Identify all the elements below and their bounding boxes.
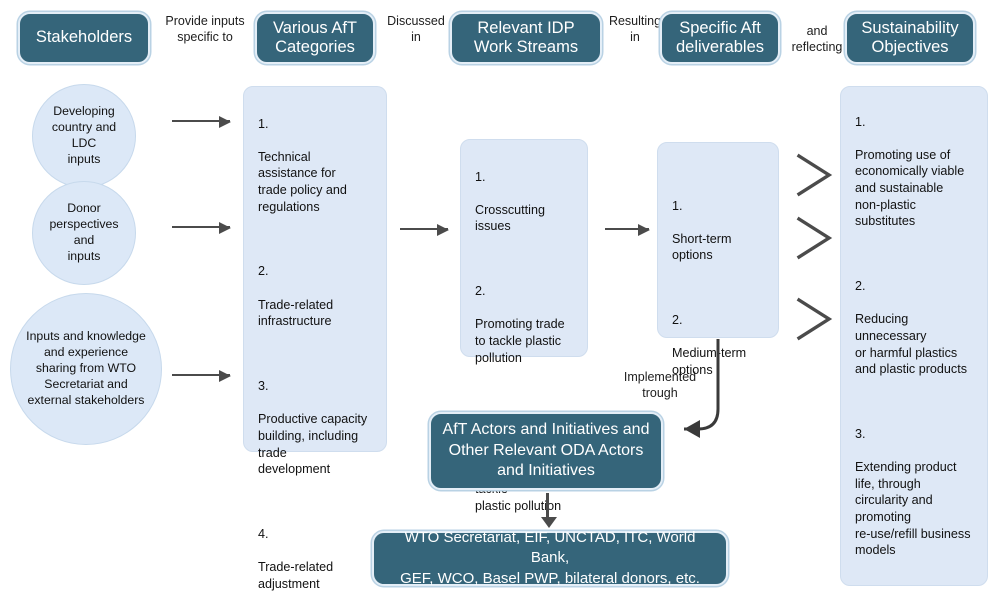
item-number: 2. bbox=[475, 283, 573, 300]
panel-aft-categories: 1. Technical assistance for trade policy… bbox=[243, 86, 387, 452]
item-text: Extending product life, through circular… bbox=[855, 459, 973, 559]
arrow-wto-to-categories bbox=[172, 374, 230, 376]
circle-donor-perspectives: Donor perspectives and inputs bbox=[32, 181, 136, 285]
item-number: 2. bbox=[855, 278, 973, 295]
list-item: 3. Productive capacity building, includi… bbox=[258, 362, 372, 495]
elbow-arrow-implemented-trough bbox=[660, 337, 770, 447]
chevron-right-icon-3 bbox=[795, 296, 835, 342]
circle-label: Inputs and knowledge and experience shar… bbox=[26, 329, 146, 409]
circle-label: Donor perspectives and inputs bbox=[39, 201, 129, 265]
arrow-developing-to-categories bbox=[172, 120, 230, 122]
item-text: Productive capacity building, including … bbox=[258, 411, 372, 477]
item-text: Short-term options bbox=[672, 231, 764, 264]
header-idp-work-streams: Relevant IDP Work Streams bbox=[450, 12, 602, 64]
arrow-donor-to-categories bbox=[172, 226, 230, 228]
item-number: 3. bbox=[855, 426, 973, 443]
caption-provide-inputs: Provide inputs specific to bbox=[160, 14, 250, 45]
sustainability-objectives-list: 1. Promoting use of economically viable … bbox=[841, 87, 987, 606]
item-number: 1. bbox=[258, 116, 372, 133]
panel-sustainability-objectives: 1. Promoting use of economically viable … bbox=[840, 86, 988, 586]
item-text: Promoting use of economically viable and… bbox=[855, 147, 973, 230]
circle-label: Developing country and LDC inputs bbox=[39, 104, 129, 168]
item-text: Promoting trade to tackle plastic pollut… bbox=[475, 316, 573, 366]
box-organisations-list: WTO Secretariat, EIF, UNCTAD, ITC, World… bbox=[372, 531, 728, 586]
item-number: 1. bbox=[855, 114, 973, 131]
diagram-canvas: Stakeholders Provide inputs specific to … bbox=[0, 0, 1000, 606]
box-aft-actors-and-initiatives: AfT Actors and Initiatives and Other Rel… bbox=[429, 412, 663, 490]
list-item: 1. Technical assistance for trade policy… bbox=[258, 99, 372, 232]
list-item: 2. Promoting trade to tackle plastic pol… bbox=[475, 267, 573, 383]
panel-aft-deliverables: 1. Short-term options 2. Medium-term opt… bbox=[657, 142, 779, 338]
panel-idp-work-streams: 1. Crosscutting issues 2. Promoting trad… bbox=[460, 139, 588, 357]
arrow-actors-to-organisations bbox=[546, 493, 549, 517]
item-text: Reducing unnecessary or harmful plastics… bbox=[855, 311, 973, 377]
list-item: 1. Short-term options bbox=[672, 181, 764, 281]
header-aft-categories: Various AfT Categories bbox=[255, 12, 375, 64]
item-number: 3. bbox=[258, 378, 372, 395]
aft-categories-list: 1. Technical assistance for trade policy… bbox=[244, 87, 386, 606]
chevron-right-icon-1 bbox=[795, 152, 835, 198]
arrow-categories-to-idp bbox=[400, 228, 448, 230]
circle-developing-country: Developing country and LDC inputs bbox=[32, 84, 136, 188]
list-item: 4. Trade-related adjustment bbox=[258, 509, 372, 606]
list-item: 1. Promoting use of economically viable … bbox=[855, 97, 973, 246]
item-text: Technical assistance for trade policy an… bbox=[258, 149, 372, 215]
caption-resulting-in: Resulting in bbox=[606, 14, 664, 45]
item-number: 1. bbox=[672, 198, 764, 215]
item-number: 4. bbox=[258, 526, 372, 543]
caption-discussed-in: Discussed in bbox=[382, 14, 450, 45]
caption-and-reflecting: and reflecting bbox=[786, 24, 848, 55]
item-number: 2. bbox=[672, 312, 764, 329]
item-number: 2. bbox=[258, 263, 372, 280]
list-item: 2. Reducing unnecessary or harmful plast… bbox=[855, 261, 973, 394]
item-number: 1. bbox=[475, 169, 573, 186]
arrow-idp-to-deliverables bbox=[605, 228, 649, 230]
circle-wto-secretariat: Inputs and knowledge and experience shar… bbox=[10, 293, 162, 445]
chevron-right-icon-2 bbox=[795, 215, 835, 261]
list-item: 2. Trade-related infrastructure bbox=[258, 247, 372, 347]
list-item: 3. Extending product life, through circu… bbox=[855, 409, 973, 575]
item-text: Trade-related infrastructure bbox=[258, 297, 372, 330]
list-item: 1. Crosscutting issues bbox=[475, 152, 573, 252]
header-sustainability-objectives: Sustainability Objectives bbox=[845, 12, 975, 64]
header-aft-deliverables: Specific Aft deliverables bbox=[660, 12, 780, 64]
header-stakeholders: Stakeholders bbox=[18, 12, 150, 64]
item-text: Crosscutting issues bbox=[475, 202, 573, 235]
list-item: 4. Improving environmentally sound waste… bbox=[855, 590, 973, 606]
item-text: Trade-related adjustment bbox=[258, 559, 372, 592]
